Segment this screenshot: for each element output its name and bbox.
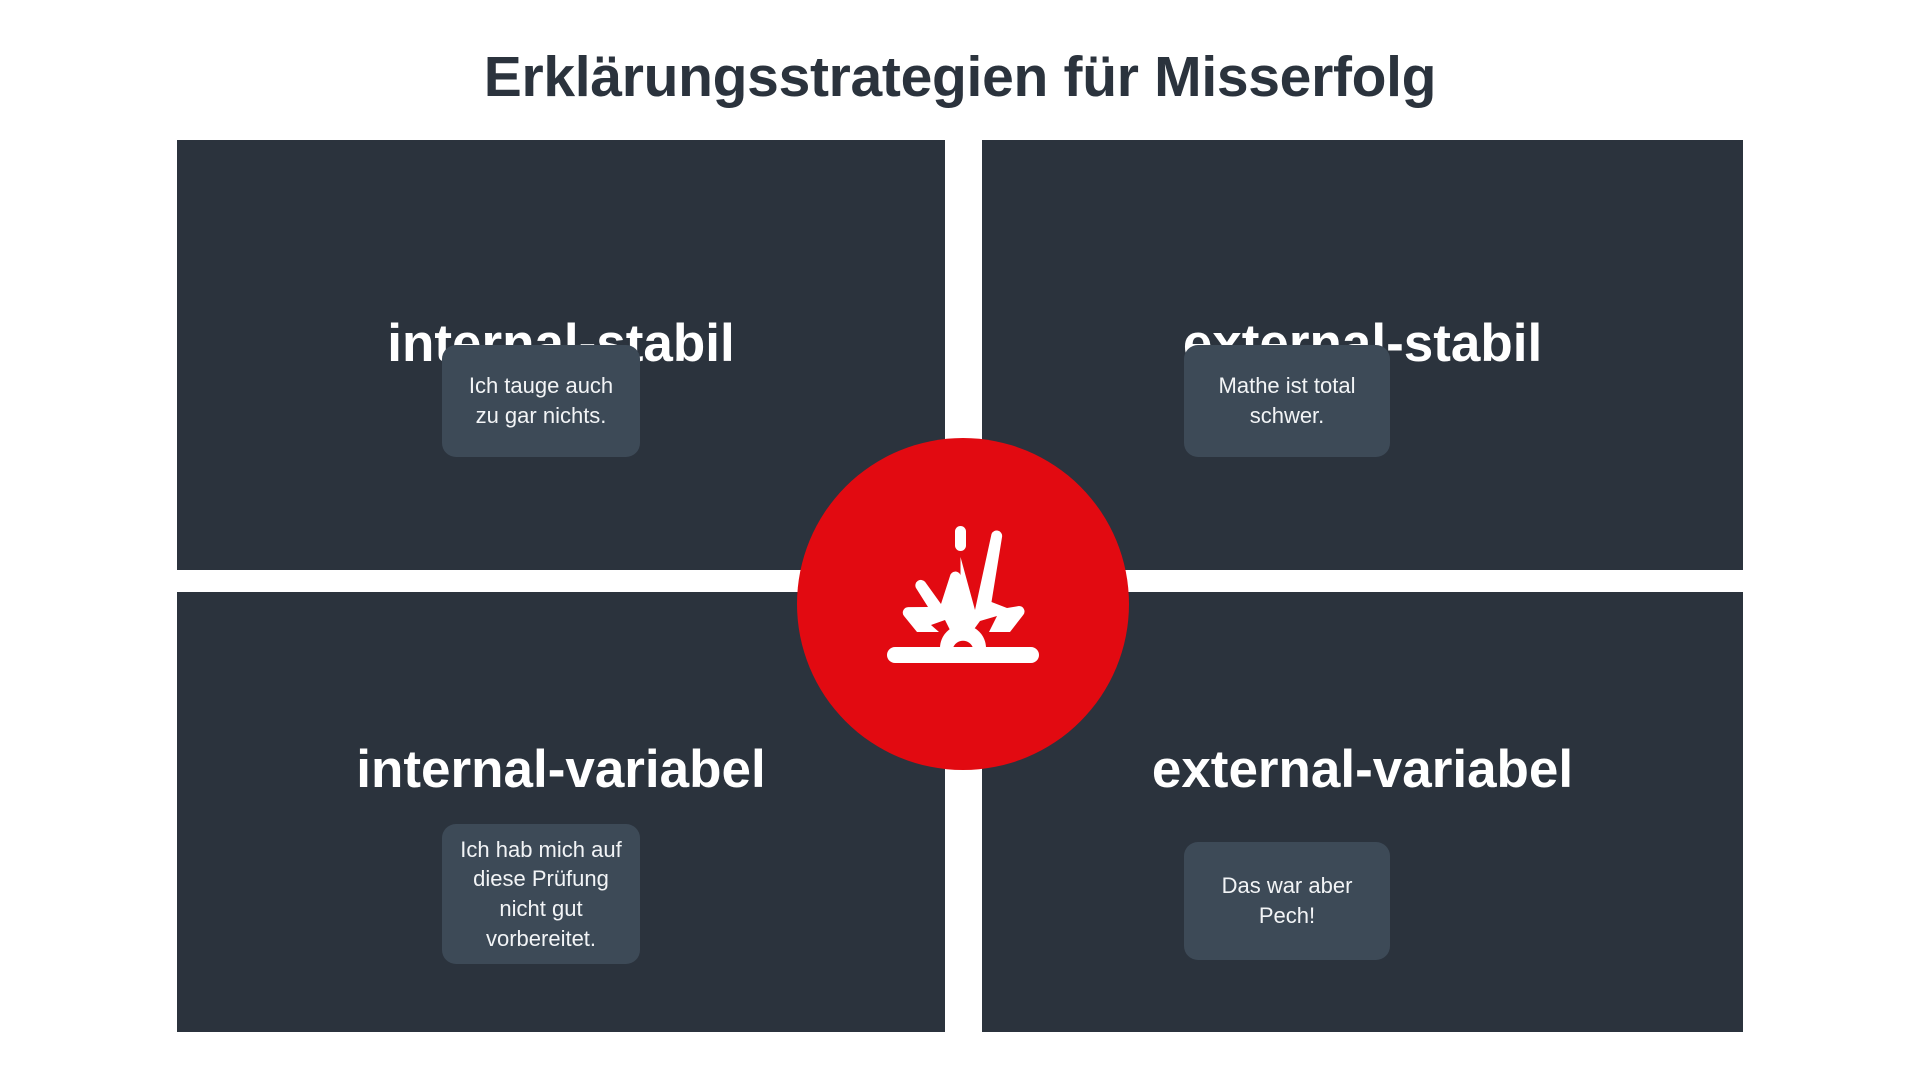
speech-bubble-text: Mathe ist total schwer. xyxy=(1200,371,1374,430)
page-title: Erklärungsstrategien für Misserfolg xyxy=(0,46,1920,109)
speech-bubble-internal-variabel: Ich hab mich auf diese Prüfung nicht gut… xyxy=(442,824,640,964)
speech-bubble-text: Das war aber Pech! xyxy=(1200,871,1374,930)
center-badge xyxy=(797,438,1129,770)
speech-bubble-external-variabel: Das war aber Pech! xyxy=(1184,842,1390,960)
speech-bubble-internal-stabil: Ich tauge auch zu gar nichts. xyxy=(442,345,640,457)
slide-canvas: Erklärungsstrategien für Misserfolg inte… xyxy=(0,0,1920,1080)
speech-bubble-external-stabil: Mathe ist total schwer. xyxy=(1184,345,1390,457)
speech-bubble-text: Ich tauge auch zu gar nichts. xyxy=(458,371,624,430)
quadrant-label-external-variabel: external-variabel xyxy=(982,742,1743,798)
speech-bubble-text: Ich hab mich auf diese Prüfung nicht gut… xyxy=(458,835,624,954)
quadrant-label-internal-variabel: internal-variabel xyxy=(177,742,945,798)
explosion-burst-icon xyxy=(879,524,1047,684)
